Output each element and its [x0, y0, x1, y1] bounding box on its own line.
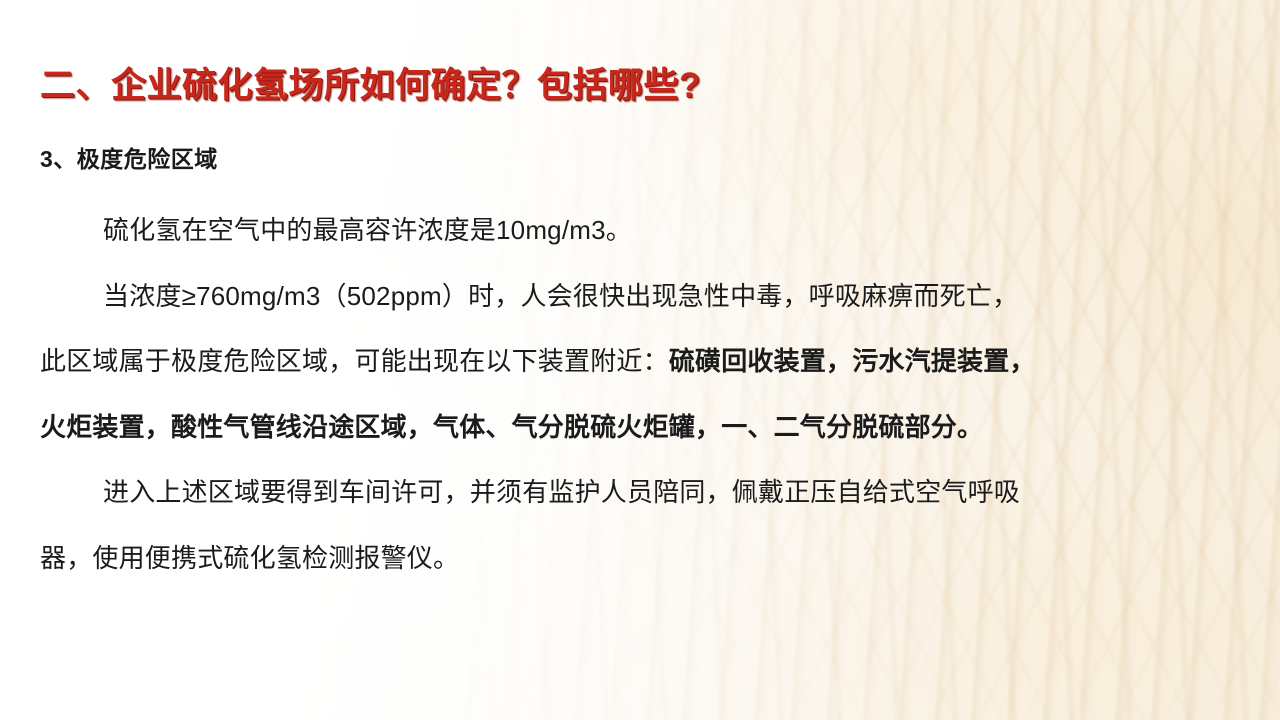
body-text: 当浓度≥760mg/m3（502ppm）时，人会很快出现急性中毒，呼吸麻痹而死亡…	[103, 281, 1018, 311]
paragraph-line: 进入上述区域要得到车间许可，并须有监护人员陪同，佩戴正压自给式空气呼吸	[40, 460, 1262, 526]
body-text-block: 硫化氢在空气中的最高容许浓度是10mg/m3。当浓度≥760mg/m3（502p…	[40, 198, 1262, 591]
paragraph-line: 当浓度≥760mg/m3（502ppm）时，人会很快出现急性中毒，呼吸麻痹而死亡…	[40, 264, 1262, 330]
slide-content: 二、企业硫化氢场所如何确定？包括哪些? 3、极度危险区域 硫化氢在空气中的最高容…	[0, 0, 1280, 720]
slide-title: 二、企业硫化氢场所如何确定？包括哪些?	[40, 57, 701, 108]
emphasis-text: 硫磺回收装置，污水汽提装置，	[669, 346, 1036, 376]
paragraph-line: 硫化氢在空气中的最高容许浓度是10mg/m3。	[40, 198, 1262, 264]
slide-canvas: 二、企业硫化氢场所如何确定？包括哪些? 3、极度危险区域 硫化氢在空气中的最高容…	[0, 0, 1280, 720]
paragraph-line: 此区域属于极度危险区域，可能出现在以下装置附近：硫磺回收装置，污水汽提装置，	[40, 329, 1262, 395]
body-text: 此区域属于极度危险区域，可能出现在以下装置附近：	[40, 346, 669, 376]
body-text: 器，使用便携式硫化氢检测报警仪。	[40, 543, 459, 573]
body-text: 进入上述区域要得到车间许可，并须有监护人员陪同，佩戴正压自给式空气呼吸	[103, 477, 1020, 507]
paragraph-line: 器，使用便携式硫化氢检测报警仪。	[40, 526, 1262, 592]
section-heading: 3、极度危险区域	[40, 140, 218, 174]
emphasis-text: 火炬装置，酸性气管线沿途区域，气体、气分脱硫火炬罐，一、二气分脱硫部分。	[40, 412, 983, 442]
body-text: 硫化氢在空气中的最高容许浓度是10mg/m3。	[103, 215, 632, 245]
paragraph-line: 火炬装置，酸性气管线沿途区域，气体、气分脱硫火炬罐，一、二气分脱硫部分。	[40, 395, 1262, 461]
